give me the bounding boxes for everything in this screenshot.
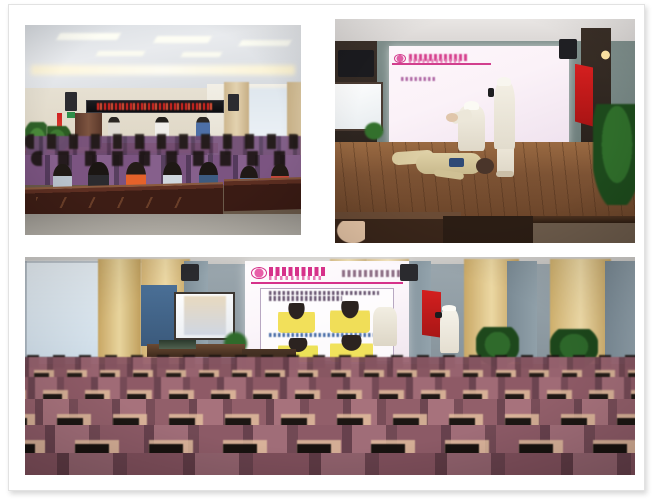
photo-collage-card: Students seated in a purple-seat auditor… [8,4,645,491]
photo-auditorium-front[interactable]: Students seated in a purple-seat auditor… [25,25,301,235]
photo-frame-auditorium-front[interactable]: Students seated in a purple-seat auditor… [19,19,307,241]
photo-stage-cpr-demo[interactable]: Two nurses in white uniforms demonstrati… [335,19,635,243]
photo-vignette [25,257,635,475]
photo-frame-auditorium-rear[interactable]: Wide rear view of a full auditorium of s… [19,251,641,481]
photo-frame-stage-cpr-demo[interactable]: Two nurses in white uniforms demonstrati… [329,13,641,249]
photo-vignette [335,19,635,243]
photo-gallery: Students seated in a purple-seat auditor… [9,5,644,490]
photo-vignette [25,25,301,235]
photo-auditorium-rear[interactable]: Wide rear view of a full auditorium of s… [25,257,635,475]
